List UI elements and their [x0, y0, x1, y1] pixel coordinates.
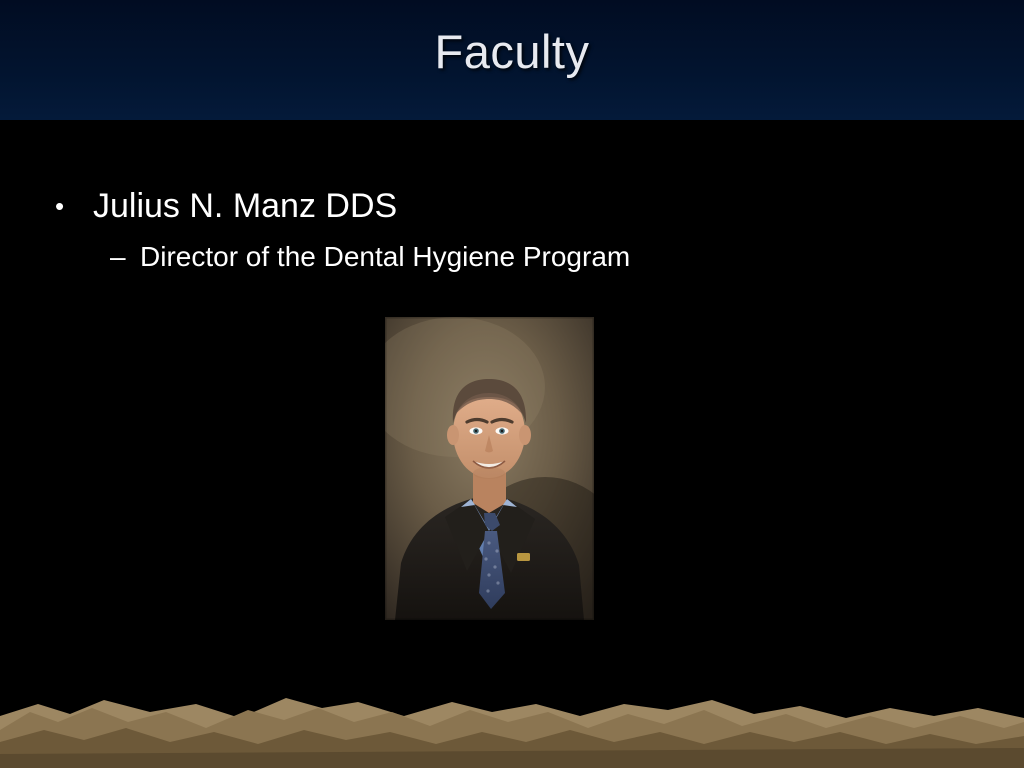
bullet-text-level1: Julius N. Manz DDS: [93, 185, 397, 227]
bullet-marker-dash: –: [110, 239, 140, 275]
bullet-item-level1: • Julius N. Manz DDS: [55, 185, 965, 227]
presentation-slide: Faculty • Julius N. Manz DDS – Director …: [0, 0, 1024, 768]
slide-title: Faculty: [0, 24, 1024, 79]
mountain-range-graphic: [0, 638, 1024, 768]
bullet-text-level2: Director of the Dental Hygiene Program: [140, 239, 630, 275]
portrait-photo-graphic: [385, 317, 594, 620]
bullet-item-level2: – Director of the Dental Hygiene Program: [110, 239, 965, 275]
slide-body: • Julius N. Manz DDS – Director of the D…: [55, 185, 965, 275]
portrait-photo: [385, 317, 594, 620]
bullet-marker-dot: •: [55, 185, 93, 227]
